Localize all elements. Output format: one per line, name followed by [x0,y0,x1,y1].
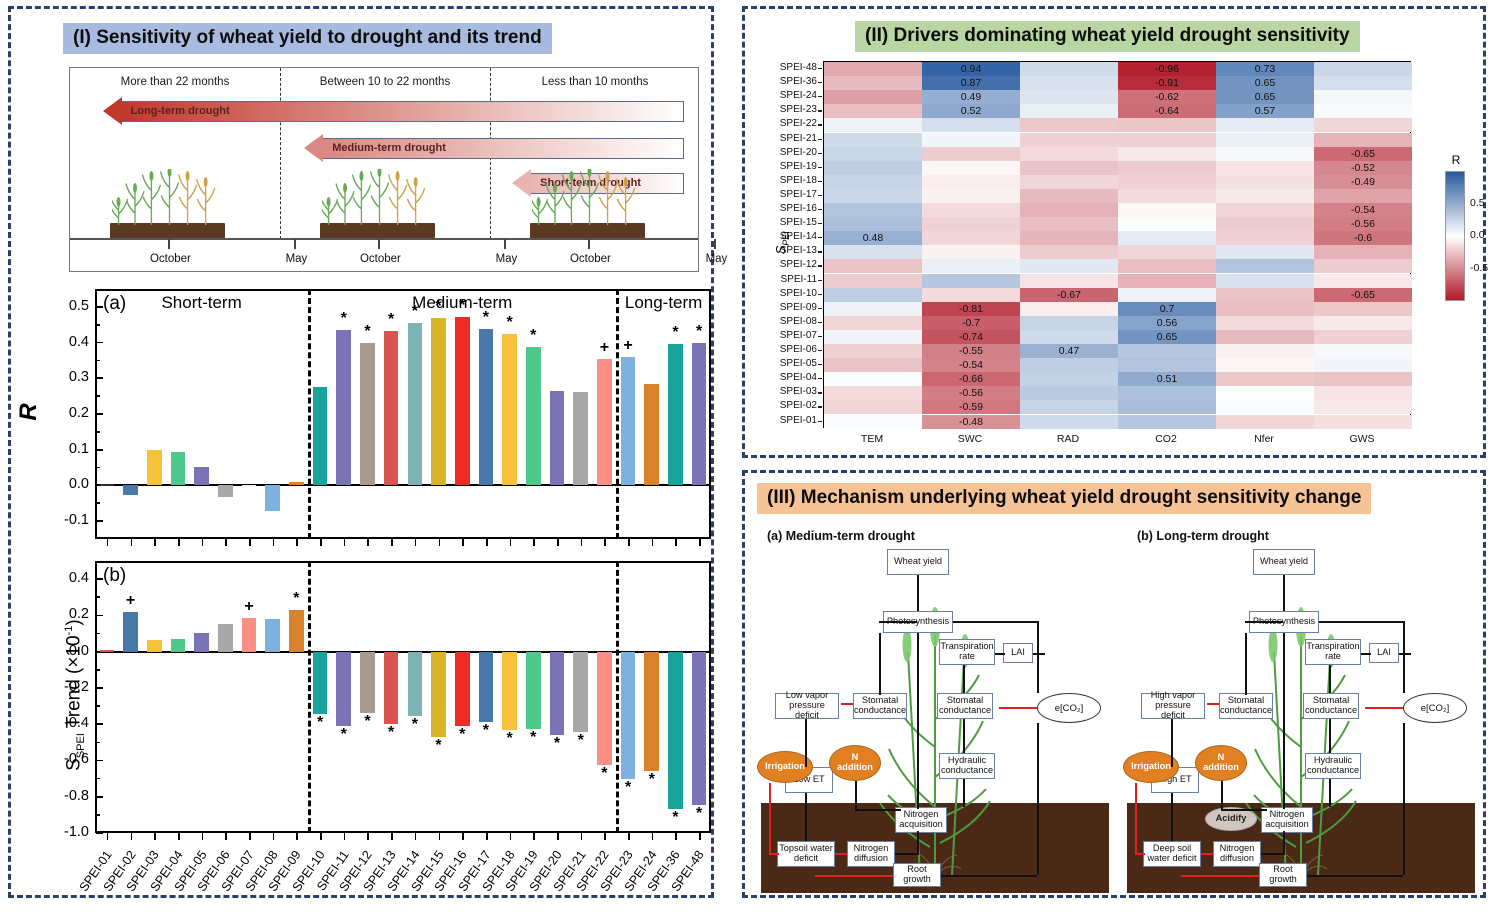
heatmap-cell: -0.65 [1314,288,1412,302]
heatmap-cell [1216,386,1314,400]
bar [502,652,517,730]
significance-marker: * [663,324,687,342]
mech-connector [855,809,901,811]
heatmap-cell [1118,259,1216,273]
x-tick-mark [439,833,441,840]
concept-soil [320,223,435,239]
x-tick-mark [249,833,251,840]
significance-marker: * [498,314,522,332]
y-tick-label: 0.2 [47,405,89,421]
heatmap-cell [1216,161,1314,175]
significance-marker: * [403,716,427,734]
x-tick-mark [604,833,606,840]
heatmap-cell: -0.49 [1314,175,1412,189]
bar [313,652,328,714]
heatmap-row-tick [818,265,822,266]
heatmap-cell [824,133,922,147]
heatmap-row-tick [818,68,822,69]
mech-connector [879,633,881,695]
bar [573,392,588,486]
ellipse-n-addition: Naddition [1195,745,1247,781]
bar [692,652,707,805]
x-tick-mark [273,833,275,840]
x-tick-mark [178,539,180,546]
heatmap-cell [1314,302,1412,316]
heatmap-cell [824,118,922,132]
significance-marker: * [545,735,569,753]
group-title: Long-term [616,293,711,313]
x-tick-mark [225,539,227,546]
mech-box-lai: LAI [1369,643,1399,663]
heatmap-cell [1314,330,1412,344]
x-tick-mark [533,539,535,546]
heatmap-cell: 0.48 [824,231,922,245]
x-tick-mark [320,539,322,546]
heatmap-cell [922,245,1020,259]
bar [289,610,304,652]
mech-connector [963,779,965,807]
panel-III-title: (III) Mechanism underlying wheat yield d… [757,483,1371,514]
heatmap-cell [1314,415,1412,429]
mech-box-ndiff: Nitrogen diffusion [847,841,895,867]
heatmap-cell [1020,175,1118,189]
heatmap-cell [1118,217,1216,231]
bar [597,359,612,485]
heatmap-cell [1020,161,1118,175]
panel-letter: (b) [103,565,126,587]
heatmap-row-label: SPEI-21 [771,133,817,144]
mech-box-soilwater: Topsoil water deficit [777,841,835,867]
y-tick-minor [96,395,100,397]
heatmap-row-tick [818,237,822,238]
heatmap-row-tick [818,350,822,351]
panel-drivers: (II) Drivers dominating wheat yield drou… [742,6,1486,458]
mech-connector [1403,621,1405,693]
y-axis-label: R [15,382,43,442]
bar [597,652,612,765]
heatmap-row-tick [818,96,822,97]
colorbar-title: R [1443,153,1469,167]
heatmap-cell [824,189,922,203]
mech-connector [1283,633,1285,809]
bar [455,652,470,726]
mech-box-vpd: Low vapor pressure deficit [775,693,839,719]
mech-connector [917,575,919,611]
mechanism-diagram-long: Wheat yieldPhotosynthesisTranspiration r… [1121,545,1481,893]
y-tick-minor [96,814,100,816]
y-tick-mark [96,413,103,415]
mech-connector [855,781,857,809]
heatmap-row-tick [818,223,822,224]
mech-connector [1361,653,1371,655]
heatmap-cell: -0.6 [1314,231,1412,245]
heatmap-cell [922,161,1020,175]
mech-connector [879,621,917,623]
mech-connector [917,831,919,855]
heatmap-row-tick [818,421,822,422]
heatmap-cell: -0.7 [922,316,1020,330]
concept-baseline [70,238,698,240]
heatmap-row-tick [818,406,822,407]
mech-connector [1283,831,1285,855]
mech-box-hydr: Hydraulic conductance [1305,753,1361,779]
mech-box-transp: Transpiration rate [939,639,995,665]
significance-marker: * [521,729,545,747]
heatmap-cell: -0.54 [1314,203,1412,217]
heatmap-cell: -0.66 [922,372,1020,386]
heatmap-cell [824,330,922,344]
x-tick-mark [581,833,583,840]
bar [431,318,446,485]
heatmap-cell [1118,147,1216,161]
mech-box-nacq: Nitrogen acquisition [1261,807,1313,833]
bar [408,652,423,717]
x-tick-mark [675,539,677,546]
x-tick-mark [131,539,133,546]
y-tick-mark [96,520,103,522]
bar [265,619,280,651]
mech-connector [963,665,965,693]
heatmap-row-label: SPEI-06 [771,344,817,355]
heatmap-cell [1020,386,1118,400]
significance-marker: * [332,726,356,744]
heatmap-cell [824,76,922,90]
x-tick-mark [391,539,393,546]
panel-I-title: (I) Sensitivity of wheat yield to drough… [63,23,552,54]
heatmap-cell [922,203,1020,217]
heatmap-cell: 0.7 [1118,302,1216,316]
mech-connector [769,783,771,853]
heatmap-cell [1216,175,1314,189]
heatmap-row-label: SPEI-10 [771,288,817,299]
y-tick-mark [96,342,103,344]
heatmap-cell: 0.94 [922,62,1020,76]
heatmap-cell [1020,147,1118,161]
heatmap-cell [1314,259,1412,273]
significance-marker: + [119,592,143,610]
heatmap-cell [1020,231,1118,245]
mech-box-soilwater: Deep soil water deficit [1143,841,1201,867]
concept-tick-label: October [562,253,618,265]
heatmap-cell [1020,76,1118,90]
group-separator [616,561,619,833]
bar [644,652,659,772]
heatmap-cell [1020,415,1118,429]
heatmap-cell [1216,189,1314,203]
y-tick-minor [96,324,100,326]
mech-connector [1135,853,1145,855]
heatmap-cell [922,259,1020,273]
heatmap-cell: 0.51 [1118,372,1216,386]
mech-connector [1245,621,1283,623]
x-tick-mark [652,539,654,546]
mech-connector [805,719,807,767]
mech-connector [1307,875,1403,877]
panel-II-title: (II) Drivers dominating wheat yield drou… [855,21,1360,52]
significance-marker: * [498,730,522,748]
x-tick-mark [225,833,227,840]
heatmap-row-tick [818,336,822,337]
heatmap-cell [1020,400,1118,414]
bar [526,652,541,730]
concept-tickmark [168,239,169,249]
mech-connector [769,853,779,855]
heatmap-cell [1118,400,1216,414]
heatmap-cell [1314,104,1412,118]
mech-connector [1399,653,1411,655]
mech-box-stom_right: Stomatal conductance [937,693,993,719]
mech-connector [1207,703,1219,705]
heatmap-cell [1216,400,1314,414]
y-tick-minor [96,431,100,433]
heatmap-cell [1216,259,1314,273]
heatmap-row-label: SPEI-02 [771,400,817,411]
x-tick-mark [510,833,512,840]
heatmap-cell [1118,175,1216,189]
x-tick-mark [652,833,654,840]
heatmap-cell [1216,147,1314,161]
heatmap-container: 0.94-0.960.730.87-0.910.650.49-0.620.650… [767,55,1467,445]
bar [621,652,636,779]
mech-box-stom_right: Stomatal conductance [1303,693,1359,719]
mech-box-yield: Wheat yield [1253,549,1315,575]
concept-tickmark [588,239,589,249]
concept-arrow-head [304,134,323,162]
x-tick-mark [486,539,488,546]
significance-marker: * [687,805,711,823]
heatmap-cell: 0.47 [1020,344,1118,358]
heatmap-row-label: SPEI-05 [771,358,817,369]
heatmap-row-label: SPEI-23 [771,104,817,115]
heatmap-cell [824,147,922,161]
bar [550,652,565,735]
bar [360,652,375,714]
bar [289,482,304,486]
heatmap-cell [1118,288,1216,302]
heatmap-row-tick [818,378,822,379]
bar [479,329,494,485]
colorbar-tick-label: -0.5 [1470,262,1488,274]
y-tick-mark [96,578,103,580]
x-tick-mark [344,833,346,840]
concept-tick-label: May [268,253,324,265]
heatmap-row-label: SPEI-01 [771,415,817,426]
mech-connector [1329,719,1331,753]
heatmap-cell [824,358,922,372]
concept-tickmark [294,239,295,249]
conceptual-drought-diagram: More than 22 monthsBetween 10 to 22 mont… [69,67,699,272]
concept-tick-label: May [688,253,744,265]
bar [526,347,541,485]
heatmap-cell [1020,372,1118,386]
mech-box-lai: LAI [1003,643,1033,663]
heatmap-cell [824,372,922,386]
significance-marker: * [474,722,498,740]
heatmap-cell [1020,62,1118,76]
x-tick-mark [107,539,109,546]
y-tick-minor [96,742,100,744]
chart-panel-a: -0.10.00.10.20.30.40.5R*********++**Shor… [27,285,711,547]
heatmap-cell [1314,90,1412,104]
y-tick-label: 0.1 [47,441,89,457]
heatmap-cell [1020,118,1118,132]
bar [384,331,399,485]
y-tick-minor [96,705,100,707]
x-tick-mark [296,539,298,546]
heatmap-cell [1314,386,1412,400]
heatmap-cell [1314,76,1412,90]
x-tick-mark [557,833,559,840]
bar [336,652,351,726]
bar [171,639,186,652]
heatmap-col-label: SWC [921,433,1019,445]
heatmap-row-tick [818,280,822,281]
significance-marker: * [308,714,332,732]
heatmap-cell [824,386,922,400]
heatmap-cell: -0.52 [1314,161,1412,175]
heatmap-cell: 0.87 [922,76,1020,90]
bar [692,343,707,485]
heatmap-cell [824,274,922,288]
mech-connector [1033,653,1045,655]
y-tick-minor [96,467,100,469]
co2-cloud: e[CO₂] [1037,693,1101,723]
mech-box-ndiff: Nitrogen diffusion [1213,841,1261,867]
heatmap-row-label: SPEI-08 [771,316,817,327]
y-tick-minor [96,633,100,635]
bar [218,485,233,496]
co2-cloud: e[CO₂] [1403,693,1467,723]
mech-box-root: Root growth [893,863,941,887]
heatmap-cell [1020,217,1118,231]
heatmap-cell [1314,372,1412,386]
x-tick-mark [510,539,512,546]
bar [218,624,233,652]
heatmap-cell [1118,245,1216,259]
heatmap-cell [1118,386,1216,400]
bar [668,652,683,810]
heatmap-cell [1118,274,1216,288]
heatmap-cell [824,302,922,316]
bar [573,652,588,732]
bar [123,485,138,495]
y-tick-label: 0.3 [47,369,89,385]
x-tick-mark [249,539,251,546]
heatmap-cell [1216,203,1314,217]
significance-marker: * [284,590,308,608]
mech-box-root: Root growth [1259,863,1307,887]
mech-box-stom_left: Stomatal conductance [1219,693,1273,719]
mech-connector [1365,707,1403,709]
heatmap-cell: -0.59 [922,400,1020,414]
concept-arrow-head [103,97,122,125]
chart-panel-b: -1.0-0.8-0.6-0.4-0.20.00.20.4SSPEI Trend… [27,557,711,847]
heatmap-cell [1314,189,1412,203]
y-tick-label: -1.0 [47,824,89,840]
bar [384,652,399,725]
mech-connector [1037,621,1039,693]
y-tick-mark [96,449,103,451]
heatmap-row-tick [818,308,822,309]
bar [336,330,351,485]
x-tick-mark [533,833,535,840]
heatmap-cell [922,274,1020,288]
x-tick-mark [202,539,204,546]
mech-subtitle-a: (a) Medium-term drought [767,529,915,543]
significance-marker: * [379,724,403,742]
heatmap-cell [824,288,922,302]
mech-box-vpd: High vapor pressure deficit [1141,693,1205,719]
heatmap-col-label: Nfer [1215,433,1313,445]
mech-connector [805,793,807,841]
heatmap-cell [1216,274,1314,288]
heatmap-grid: 0.94-0.960.730.87-0.910.650.49-0.620.650… [823,61,1411,428]
mech-connector [1319,621,1403,623]
heatmap-row-tick [818,82,822,83]
heatmap-cell [1020,259,1118,273]
group-separator [308,289,311,539]
concept-wheat-group [112,169,227,225]
mech-connector [895,853,917,855]
y-tick-minor [96,360,100,362]
heatmap-cell [922,189,1020,203]
x-tick-mark [557,539,559,546]
significance-marker: * [450,726,474,744]
bar [147,450,162,485]
heatmap-cell [1216,133,1314,147]
heatmap-row-label: SPEI-19 [771,161,817,172]
bar [123,612,138,652]
heatmap-cell [1216,245,1314,259]
heatmap-cell [824,245,922,259]
heatmap-cell: -0.74 [922,330,1020,344]
heatmap-cell: -0.55 [922,344,1020,358]
heatmap-cell [1020,104,1118,118]
heatmap-cell [824,316,922,330]
x-tick-mark [439,539,441,546]
heatmap-row-tick [818,209,822,210]
heatmap-cell [1314,62,1412,76]
ellipse-acidify: Acidify [1205,807,1257,831]
heatmap-cell [1020,274,1118,288]
mech-connector [1403,723,1405,875]
group-separator [308,561,311,833]
mech-connector [963,719,965,753]
heatmap-row-tick [818,167,822,168]
significance-marker: * [355,713,379,731]
significance-marker: + [237,598,261,616]
bar [455,317,470,486]
mech-connector [1171,793,1173,841]
concept-tickmark [714,239,715,249]
heatmap-cell [922,217,1020,231]
heatmap-cell [1216,217,1314,231]
heatmap-cell: -0.48 [922,415,1020,429]
concept-segment-label: Between 10 to 22 months [280,76,490,88]
heatmap-cell [1314,274,1412,288]
heatmap-row-label: SPEI-20 [771,147,817,158]
bar [360,343,375,486]
heatmap-cell: -0.91 [1118,76,1216,90]
x-tick-mark [296,833,298,840]
mech-connector [835,853,847,855]
concept-soil [530,223,645,239]
x-tick-mark [391,833,393,840]
heatmap-cell [1020,245,1118,259]
bar [194,467,209,485]
y-tick-label: 0.5 [47,298,89,314]
heatmap-cell: -0.96 [1118,62,1216,76]
